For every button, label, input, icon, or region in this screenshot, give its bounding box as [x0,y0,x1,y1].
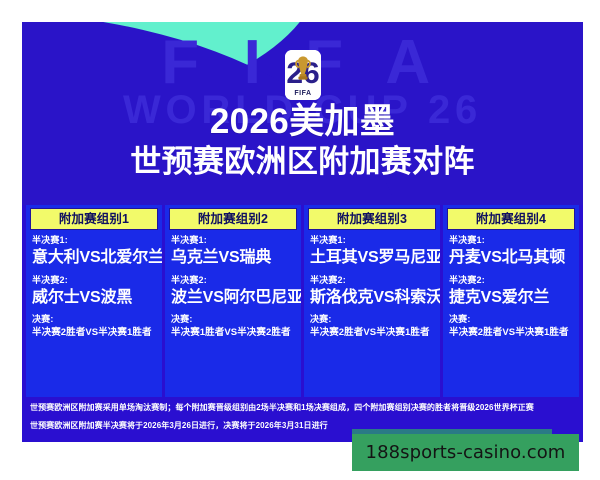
poster-title-main: 2026美加墨 [22,102,583,141]
semifinal-1-label: 半决赛1: [449,235,573,247]
spacer [304,268,440,275]
playoff-group-column: 附加赛组别2 半决赛1: 乌克兰VS瑞典 半决赛2: 波兰VS阿尔巴尼亚 决赛:… [165,205,301,397]
final-block: 决赛: 半决赛2胜者VS半决赛1胜者 [26,314,162,340]
final-label: 决赛: [310,314,434,326]
semifinal-2-label: 半决赛2: [449,275,573,287]
final-teams: 半决赛1胜者VS半决赛2胜者 [171,327,295,339]
semifinal-1-block: 半决赛1: 乌克兰VS瑞典 [165,235,301,268]
footnote-format: 世预赛欧洲区附加赛采用单场淘汰赛制；每个附加赛晋级组别由2场半决赛和1场决赛组成… [30,403,575,414]
group-header: 附加赛组别4 [447,208,575,230]
site-watermark-text: 188sports-casino.com [366,442,566,463]
fifa-world-cup-emblem-icon: 26 FIFA [285,50,321,100]
semifinal-2-block: 半决赛2: 斯洛伐克VS科索沃 [304,275,440,308]
playoff-group-column: 附加赛组别3 半决赛1: 土耳其VS罗马尼亚 半决赛2: 斯洛伐克VS科索沃 决… [304,205,440,397]
semifinal-2-label: 半决赛2: [32,275,156,287]
semifinal-1-block: 半决赛1: 意大利VS北爱尔兰 [26,235,162,268]
semifinal-1-label: 半决赛1: [32,235,156,247]
semifinal-2-label: 半决赛2: [171,275,295,287]
semifinal-1-teams: 乌克兰VS瑞典 [171,248,295,268]
semifinal-2-label: 半决赛2: [310,275,434,287]
semifinal-2-teams: 斯洛伐克VS科索沃 [310,288,434,308]
final-label: 决赛: [171,314,295,326]
spacer [165,268,301,275]
final-teams: 半决赛2胜者VS半决赛1胜者 [310,327,434,339]
semifinal-1-teams: 土耳其VS罗马尼亚 [310,248,434,268]
semifinal-1-label: 半决赛1: [310,235,434,247]
spacer [26,268,162,275]
poster-title-sub: 世预赛欧洲区附加赛对阵 [22,143,583,180]
final-teams: 半决赛2胜者VS半决赛1胜者 [32,327,156,339]
semifinal-1-teams: 丹麦VS北马其顿 [449,248,573,268]
final-label: 决赛: [449,314,573,326]
final-teams: 半决赛2胜者VS半决赛1胜者 [449,327,573,339]
final-block: 决赛: 半决赛2胜者VS半决赛1胜者 [443,314,579,340]
poster-hero-header: F I F A WORLD CUP 26 26 FIFA 2026美加墨 世预赛… [22,22,583,205]
playoff-groups-container: 附加赛组别1 半决赛1: 意大利VS北爱尔兰 半决赛2: 威尔士VS波黑 决赛:… [22,205,583,397]
semifinal-2-block: 半决赛2: 捷克VS爱尔兰 [443,275,579,308]
semifinal-2-teams: 波兰VS阿尔巴尼亚 [171,288,295,308]
playoff-group-column: 附加赛组别4 半决赛1: 丹麦VS北马其顿 半决赛2: 捷克VS爱尔兰 决赛: … [443,205,579,397]
semifinal-2-teams: 威尔士VS波黑 [32,288,156,308]
group-header: 附加赛组别2 [169,208,297,230]
tournament-poster: F I F A WORLD CUP 26 26 FIFA 2026美加墨 世预赛… [22,22,583,442]
semifinal-1-teams: 意大利VS北爱尔兰 [32,248,156,268]
spacer [443,268,579,275]
group-header: 附加赛组别1 [30,208,158,230]
final-block: 决赛: 半决赛2胜者VS半决赛1胜者 [304,314,440,340]
svg-text:FIFA: FIFA [294,90,311,97]
semifinal-2-teams: 捷克VS爱尔兰 [449,288,573,308]
poster-title-block: 2026美加墨 世预赛欧洲区附加赛对阵 [22,102,583,180]
site-watermark-badge: 188sports-casino.com [352,434,579,471]
final-label: 决赛: [32,314,156,326]
playoff-group-column: 附加赛组别1 半决赛1: 意大利VS北爱尔兰 半决赛2: 威尔士VS波黑 决赛:… [26,205,162,397]
semifinal-2-block: 半决赛2: 威尔士VS波黑 [26,275,162,308]
semifinal-2-block: 半决赛2: 波兰VS阿尔巴尼亚 [165,275,301,308]
final-block: 决赛: 半决赛1胜者VS半决赛2胜者 [165,314,301,340]
semifinal-1-block: 半决赛1: 土耳其VS罗马尼亚 [304,235,440,268]
group-header: 附加赛组别3 [308,208,436,230]
semifinal-1-block: 半决赛1: 丹麦VS北马其顿 [443,235,579,268]
semifinal-1-label: 半决赛1: [171,235,295,247]
